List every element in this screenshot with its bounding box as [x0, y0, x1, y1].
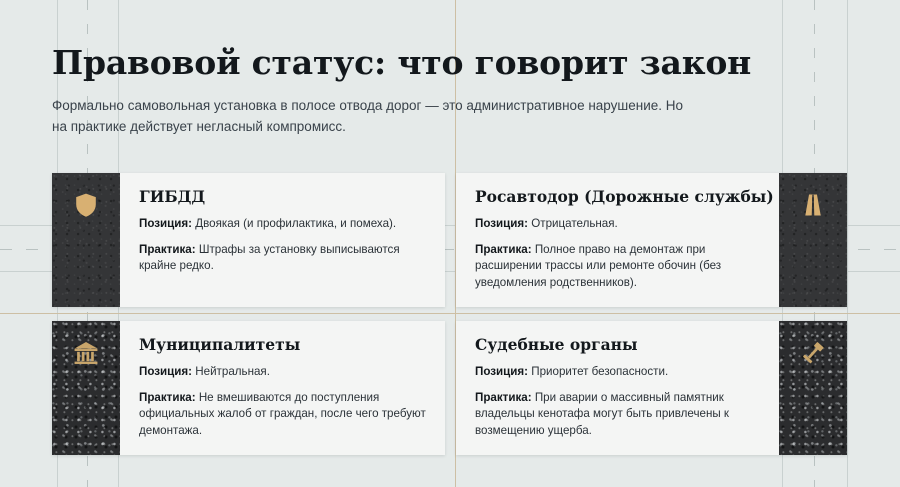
card-row-position: Позиция: Нейтральная.: [139, 364, 427, 381]
card-gibdd[interactable]: ГИБДД Позиция: Двоякая (и профилактика, …: [52, 173, 445, 307]
slide-canvas: Правовой статус: что говорит закон Форма…: [0, 0, 900, 487]
header: Правовой статус: что говорит закон Форма…: [52, 44, 752, 137]
page-title: Правовой статус: что говорит закон: [52, 44, 752, 82]
card-body: Судебные органы Позиция: Приоритет безоп…: [456, 321, 779, 455]
card-municipalities[interactable]: Муниципалитеты Позиция: Нейтральная. Пра…: [52, 321, 445, 455]
card-row-value: Двоякая (и профилактика, и помеха).: [195, 217, 396, 230]
card-body: ГИБДД Позиция: Двоякая (и профилактика, …: [120, 173, 445, 307]
card-row-position: Позиция: Приоритет безопасности.: [475, 364, 761, 381]
card-row-label: Позиция:: [475, 365, 531, 378]
card-row-practice: Практика: Полное право на демонтаж при р…: [475, 242, 761, 292]
card-icon-panel: [779, 321, 847, 455]
card-row-value: Нейтральная.: [195, 365, 270, 378]
card-row-label: Позиция:: [475, 217, 531, 230]
grid-line-horizontal: [0, 313, 900, 314]
road-line-right-inner: [847, 0, 848, 487]
card-title: Судебные органы: [475, 336, 761, 353]
card-courts[interactable]: Судебные органы Позиция: Приоритет безоп…: [456, 321, 847, 455]
card-row-label: Позиция:: [139, 365, 195, 378]
page-subtitle: Формально самовольная установка в полосе…: [52, 96, 692, 138]
card-row-position: Позиция: Двоякая (и профилактика, и поме…: [139, 216, 427, 233]
card-rosavtodor[interactable]: Росавтодор (Дорожные службы) Позиция: От…: [456, 173, 847, 307]
bank-icon: [72, 339, 100, 367]
shield-icon: [72, 191, 100, 219]
card-row-label: Позиция:: [139, 217, 195, 230]
card-row-practice: Практика: Штрафы за установку выписывают…: [139, 242, 427, 275]
card-row-label: Практика:: [139, 391, 199, 404]
card-row-label: Практика:: [139, 243, 199, 256]
card-row-position: Позиция: Отрицательная.: [475, 216, 761, 233]
card-icon-panel: [52, 321, 120, 455]
card-icon-panel: [779, 173, 847, 307]
card-title: ГИБДД: [139, 188, 427, 205]
card-row-value: Приоритет безопасности.: [531, 365, 668, 378]
card-title: Росавтодор (Дорожные службы): [475, 188, 761, 205]
card-row-label: Практика:: [475, 243, 535, 256]
card-row-practice: Практика: Не вмешиваются до поступления …: [139, 390, 427, 440]
card-icon-panel: [52, 173, 120, 307]
card-body: Росавтодор (Дорожные службы) Позиция: От…: [456, 173, 779, 307]
card-body: Муниципалитеты Позиция: Нейтральная. Пра…: [120, 321, 445, 455]
card-title: Муниципалитеты: [139, 336, 427, 353]
card-row-label: Практика:: [475, 391, 535, 404]
card-row-practice: Практика: При аварии о массивный памятни…: [475, 390, 761, 440]
card-row-value: Отрицательная.: [531, 217, 617, 230]
road-icon: [799, 191, 827, 219]
gavel-icon: [799, 339, 827, 367]
